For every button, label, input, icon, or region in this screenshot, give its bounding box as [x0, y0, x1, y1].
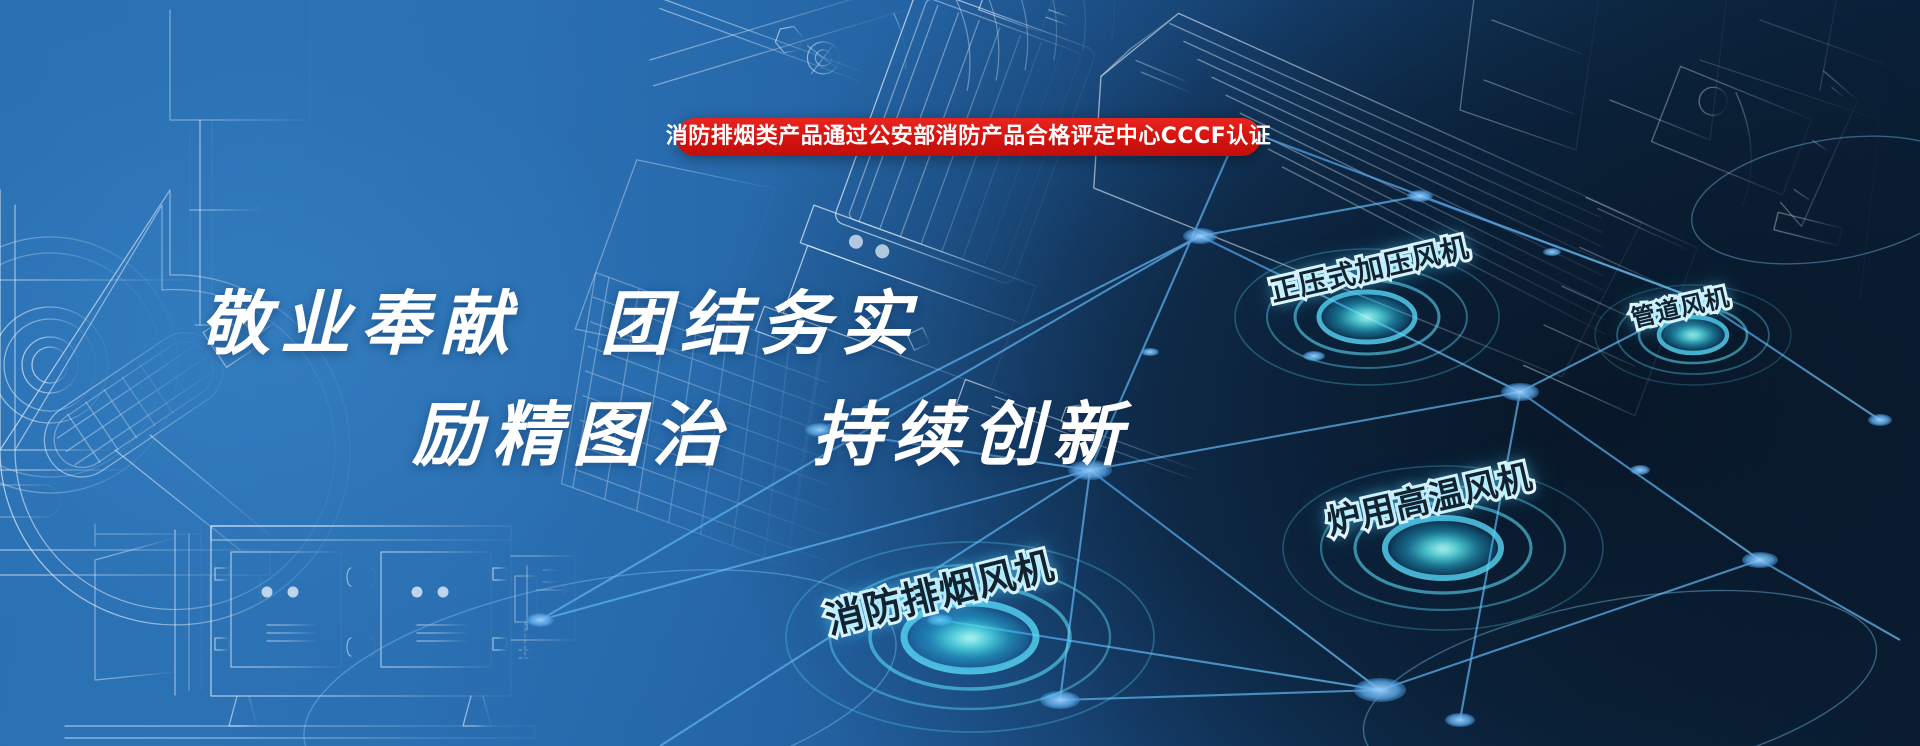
product-label-positive-pressure-fan: 正压式加压风机 [1266, 226, 1473, 311]
slogan-line-1: 敬业奉献 团结务实 [200, 268, 1132, 369]
blueprint-air-handling-unit [65, 524, 575, 738]
certification-text: 消防排烟类产品通过公安部消防产品合格评定中心CCCF认证 [666, 126, 1271, 148]
blueprint-layer [0, 0, 1920, 746]
mesh-ellipse-orbits [285, 117, 1920, 746]
certification-banner: 消防排烟类产品通过公安部消防产品合格评定中心CCCF认证 [676, 118, 1261, 156]
hub-furnace-high-temp-fan [1268, 456, 1618, 641]
product-label-duct-fan: 管道风机 [1627, 277, 1732, 334]
hub-rings [1268, 456, 1618, 641]
product-label-furnace-high-temp-fan: 炉用高温风机 [1321, 449, 1537, 544]
hub-core-glow [1321, 294, 1413, 340]
hub-rings [1588, 280, 1798, 390]
hub-positive-pressure-fan [1222, 242, 1512, 392]
network-mesh [0, 0, 1920, 746]
slogan-line-2: 励精图治 持续创新 [412, 379, 1132, 480]
blueprint-fan-impeller [639, 0, 1123, 133]
hub-rings [770, 530, 1170, 745]
hub-rings [1222, 242, 1512, 392]
hub-core-glow [1660, 318, 1726, 352]
blueprint-top-left-box [170, 0, 310, 120]
blueprint-faint-right [1700, 20, 1900, 300]
blueprint-louvered-damper [1053, 0, 1878, 453]
product-label-fire-smoke-exhaust-fan: 消防排烟风机 [819, 535, 1059, 645]
mesh-edges [540, 128, 1900, 746]
blueprint-duct-elbow [30, 282, 290, 491]
hub-core-glow [1388, 521, 1498, 576]
hub-core-glow [908, 607, 1032, 669]
blueprint-drawings [0, 0, 1920, 746]
hub-duct-fan [1588, 280, 1798, 390]
blueprint-motor-assembly [496, 0, 1331, 685]
blueprint-frame-struts [1460, 0, 1840, 150]
mesh-nodes [526, 121, 1892, 727]
network-mesh-layer [0, 0, 1920, 746]
banner-hero: 正压式加压风机 管道风机 炉用高温风机 消防排烟风机 敬业奉献 团结务实 励精图… [0, 0, 1920, 746]
blueprint-centrifugal-fan [0, 120, 350, 625]
hub-fire-smoke-exhaust-fan [770, 530, 1170, 745]
slogan-block: 敬业奉献 团结务实 励精图治 持续创新 [200, 268, 1132, 480]
